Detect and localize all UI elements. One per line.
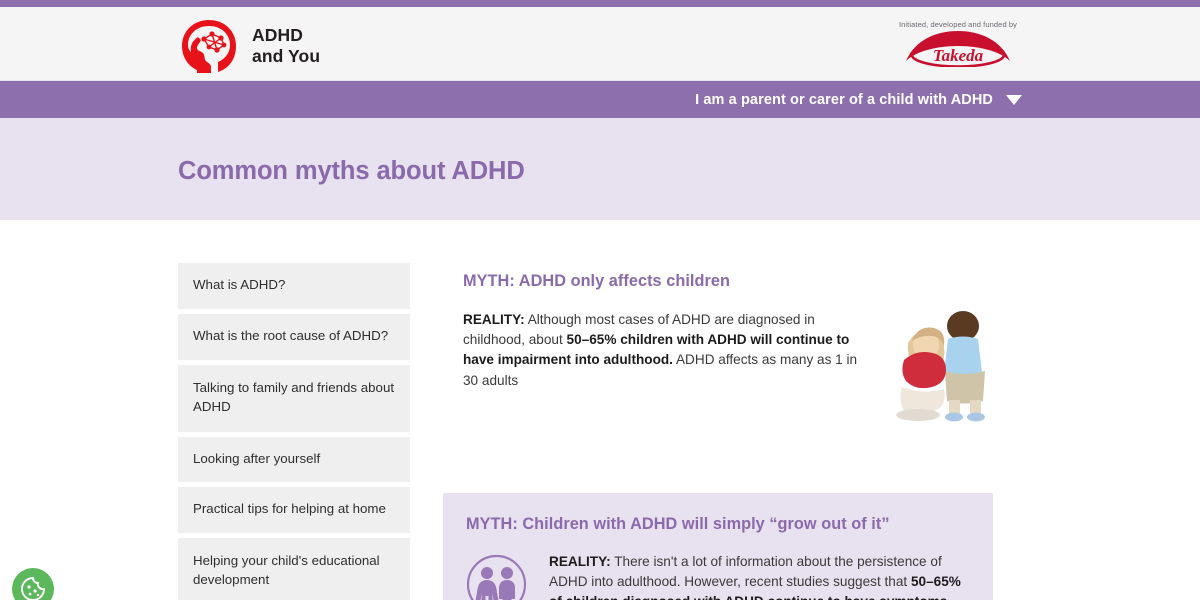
sponsor-logo[interactable]: Initiated, developed and funded by Taked…	[894, 20, 1022, 67]
brand-line-2: and You	[252, 46, 320, 67]
section-nav-sidebar: What is ADHD? What is the root cause of …	[178, 263, 410, 600]
sidebar-item-label: What is ADHD?	[193, 277, 285, 292]
main-column: MYTH: ADHD only affects children REALITY…	[463, 272, 993, 391]
brand-wordmark: ADHD and You	[252, 25, 320, 68]
sidebar-item-practical-tips[interactable]: Practical tips for helping at home	[178, 487, 410, 533]
reality-label: REALITY:	[463, 312, 525, 327]
page-title: Common myths about ADHD	[178, 157, 525, 186]
sidebar-item-label: What is the root cause of ADHD?	[193, 328, 388, 343]
sidebar-item-looking-after-yourself[interactable]: Looking after yourself	[178, 437, 410, 483]
brand-line-1: ADHD	[252, 25, 320, 46]
svg-text:Takeda: Takeda	[933, 46, 984, 65]
brand-logo[interactable]: ADHD and You	[178, 17, 320, 75]
audience-nav-bar: I am a parent or carer of a child with A…	[0, 81, 1200, 118]
sidebar-item-label: Talking to family and friends about ADHD	[193, 380, 394, 414]
myth-2-heading: MYTH: Children with ADHD will simply “gr…	[466, 515, 969, 534]
top-accent-strip	[0, 0, 1200, 7]
cookie-icon	[20, 576, 46, 600]
sidebar-item-label: Practical tips for helping at home	[193, 501, 386, 516]
sponsor-credit: Initiated, developed and funded by	[894, 20, 1022, 29]
audience-selector[interactable]: I am a parent or carer of a child with A…	[695, 92, 1022, 108]
site-header: ADHD and You Initiated, developed and fu…	[0, 7, 1200, 81]
myth-2-reality: REALITY: There isn't a lot of informatio…	[549, 552, 969, 600]
myth-block-2: MYTH: Children with ADHD will simply “gr…	[443, 493, 993, 600]
reality-label: REALITY:	[549, 554, 611, 569]
myth-block-1: MYTH: ADHD only affects children REALITY…	[463, 272, 993, 391]
takeda-logo: Takeda	[903, 31, 1013, 67]
audience-selector-label: I am a parent or carer of a child with A…	[695, 92, 993, 108]
mother-kneeling-with-boy-photo	[888, 305, 1006, 424]
myth-1-heading: MYTH: ADHD only affects children	[463, 272, 993, 291]
sidebar-item-talking-to-family[interactable]: Talking to family and friends about ADHD	[178, 365, 410, 432]
two-children-circle-icon	[466, 554, 527, 600]
myth-1-reality: REALITY: Although most cases of ADHD are…	[463, 310, 861, 391]
chevron-down-icon	[1006, 95, 1022, 105]
sidebar-item-label: Looking after yourself	[193, 451, 320, 466]
sidebar-item-what-is-adhd[interactable]: What is ADHD?	[178, 263, 410, 309]
page-banner: Common myths about ADHD	[0, 118, 1200, 220]
page-root: ADHD and You Initiated, developed and fu…	[0, 0, 1200, 600]
cookie-settings-button[interactable]	[12, 568, 54, 600]
adhd-head-network-icon	[178, 17, 240, 75]
sidebar-item-root-cause[interactable]: What is the root cause of ADHD?	[178, 314, 410, 360]
sidebar-item-educational-development[interactable]: Helping your child's educational develop…	[178, 538, 410, 600]
sidebar-item-label: Helping your child's educational develop…	[193, 553, 380, 587]
